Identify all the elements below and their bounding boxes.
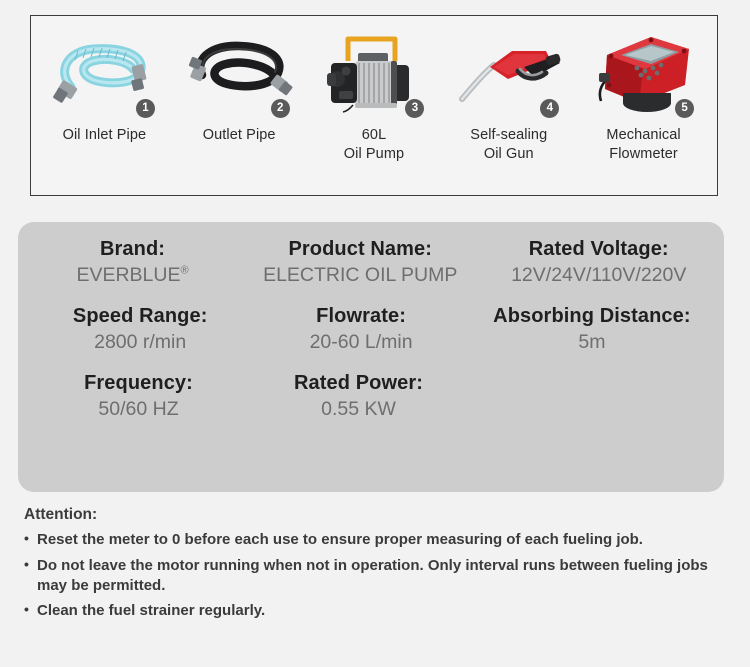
attention-item: Reset the meter to 0 before each use to … — [24, 530, 736, 550]
spec-value: 2800 r/min — [94, 331, 186, 354]
components-row: 1 Oil Inlet Pipe — [31, 16, 717, 195]
component-thumb: 1 — [42, 24, 167, 122]
component-caption-line1: Mechanical — [606, 126, 680, 145]
component-number-badge: 5 — [675, 99, 694, 118]
spec-speed-range: Speed Range: 2800 r/min — [26, 305, 254, 354]
spec-value: 5m — [578, 331, 605, 354]
spec-value: 20-60 L/min — [310, 331, 413, 354]
spec-value: 12V/24V/110V/220V — [511, 264, 686, 287]
component-thumb: 4 — [446, 24, 571, 122]
attention-section: Attention: Reset the meter to 0 before e… — [24, 506, 736, 627]
component-number-badge: 2 — [271, 99, 290, 118]
spec-value: 50/60 HZ — [98, 398, 178, 421]
component-caption: Outlet Pipe — [203, 126, 276, 145]
spec-product-name: Product Name: ELECTRIC OIL PUMP — [239, 238, 481, 287]
spec-label: Flowrate: — [316, 305, 406, 328]
spec-row-1: Brand: EVERBLUE® Product Name: ELECTRIC … — [18, 236, 724, 287]
registered-mark: ® — [181, 265, 189, 277]
component-caption-line1: Self-sealing — [470, 126, 547, 145]
spec-flowrate: Flowrate: 20-60 L/min — [254, 305, 467, 354]
spec-value: EVERBLUE® — [76, 264, 188, 287]
spec-label: Rated Voltage: — [529, 238, 669, 261]
component-caption: 60L Oil Pump — [344, 126, 404, 163]
component-thumb: 5 — [581, 24, 706, 122]
component-caption-line2: Flowmeter — [606, 145, 680, 164]
component-caption: Oil Inlet Pipe — [63, 126, 147, 145]
pump-head — [327, 63, 357, 103]
spec-value: ELECTRIC OIL PUMP — [263, 264, 457, 287]
pump-base — [355, 103, 397, 108]
spec-rated-voltage: Rated Voltage: 12V/24V/110V/220V — [481, 238, 716, 287]
component-item-oil-gun[interactable]: 4 Self-sealing Oil Gun — [441, 24, 576, 163]
component-caption: Self-sealing Oil Gun — [470, 126, 547, 163]
spec-label: Frequency: — [84, 372, 193, 395]
component-item-outlet-pipe[interactable]: 2 Outlet Pipe — [172, 24, 307, 145]
spec-row-2: Speed Range: 2800 r/min Flowrate: 20-60 … — [18, 287, 724, 354]
spec-value-text: EVERBLUE — [76, 264, 180, 286]
spec-rated-power: Rated Power: 0.55 KW — [251, 372, 466, 421]
component-item-flowmeter[interactable]: 5 Mechanical Flowmeter — [576, 24, 711, 163]
nozzle-spout — [462, 65, 494, 99]
attention-item: Clean the fuel strainer regularly. — [24, 601, 736, 621]
spec-absorbing-distance: Absorbing Distance: 5m — [468, 305, 716, 354]
spec-label: Rated Power: — [294, 372, 423, 395]
specifications-panel: Brand: EVERBLUE® Product Name: ELECTRIC … — [18, 222, 724, 492]
component-thumb: 3 — [311, 24, 436, 122]
component-thumb: 2 — [177, 24, 302, 122]
spec-label: Speed Range: — [73, 305, 208, 328]
spec-value: 0.55 KW — [321, 398, 396, 421]
attention-list: Reset the meter to 0 before each use to … — [24, 530, 736, 621]
component-caption-line2: Oil Pump — [344, 145, 404, 164]
component-caption: Mechanical Flowmeter — [606, 126, 680, 163]
spec-label: Absorbing Distance: — [493, 305, 690, 328]
attention-title: Attention: — [24, 506, 736, 524]
spec-frequency: Frequency: 50/60 HZ — [26, 372, 251, 421]
spec-label: Product Name: — [288, 238, 432, 261]
component-caption-line2: Oil Gun — [470, 145, 547, 164]
flowmeter-turbine-body — [623, 93, 671, 112]
motor-fins — [359, 63, 389, 103]
component-item-oil-pump[interactable]: 3 60L Oil Pump — [307, 24, 442, 163]
component-caption-line1: 60L — [344, 126, 404, 145]
spec-label: Brand: — [100, 238, 165, 261]
components-gallery: 1 Oil Inlet Pipe — [30, 15, 718, 196]
spec-row-3: Frequency: 50/60 HZ Rated Power: 0.55 KW — [18, 354, 724, 421]
component-item-oil-inlet-pipe[interactable]: 1 Oil Inlet Pipe — [37, 24, 172, 145]
pump-cable — [343, 105, 353, 112]
hose-coupling-left — [53, 80, 78, 104]
component-number-badge: 1 — [136, 99, 155, 118]
attention-item: Do not leave the motor running when not … — [24, 556, 736, 596]
spec-brand: Brand: EVERBLUE® — [26, 238, 239, 287]
